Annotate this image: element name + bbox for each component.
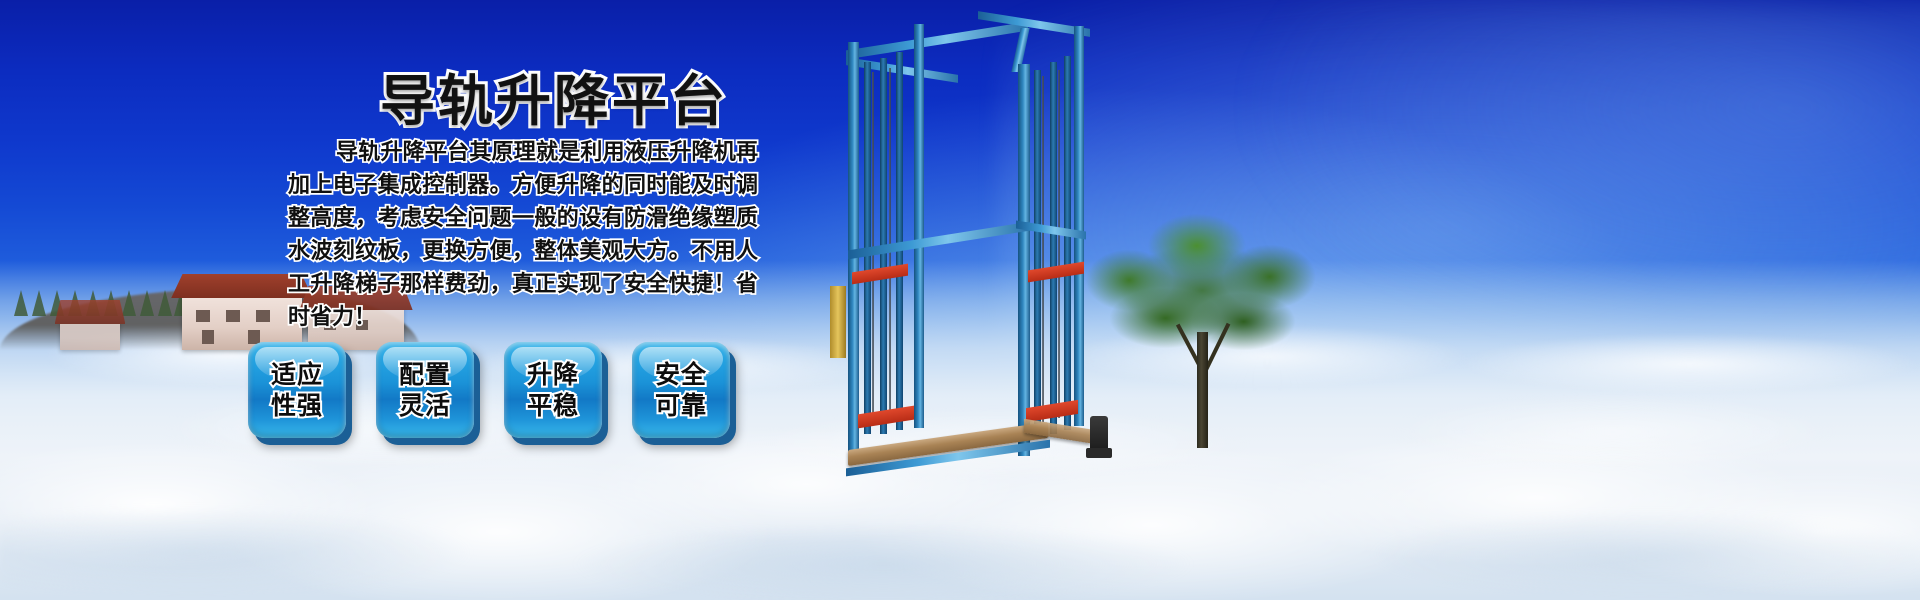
feature-badge-label: 升降 平稳	[527, 359, 579, 421]
feature-badge-label: 配置 灵活	[399, 359, 451, 421]
feature-badge-label: 安全 可靠	[655, 359, 707, 421]
column-front-left	[848, 42, 859, 452]
house-roof	[55, 300, 126, 324]
feature-badge-configuration[interactable]: 配置 灵活	[376, 342, 474, 438]
house-window	[256, 310, 270, 322]
mid-beam-front	[848, 222, 1030, 260]
village-house-small	[60, 320, 120, 350]
description-paragraph: 导轨升降平台其原理就是利用液压升降机再加上电子集成控制器。方便升降的同时能及时调…	[288, 136, 758, 334]
page-title: 导轨升降平台	[380, 56, 728, 136]
feature-badge-list: 适应 性强 配置 灵活 升降 平稳 安全 可靠	[248, 342, 730, 438]
column-front-right	[1018, 64, 1030, 456]
column-back-left	[914, 24, 924, 428]
feature-badge-smooth-lifting[interactable]: 升降 平稳	[504, 342, 602, 438]
feature-badge-label: 适应 性强	[271, 359, 323, 421]
guide-rail-right-b	[1050, 62, 1057, 434]
guide-rail-right-a	[1034, 70, 1041, 438]
feature-badge-safety[interactable]: 安全 可靠	[632, 342, 730, 438]
tree-trunk	[1197, 332, 1208, 448]
house-window	[202, 330, 214, 344]
frame-top-front	[846, 22, 1028, 60]
cloud-band-lower	[0, 480, 1920, 600]
house-window	[196, 310, 210, 322]
lift-cable	[1042, 76, 1044, 422]
guide-rail-right-c	[1064, 56, 1071, 430]
control-cabinet	[830, 286, 846, 358]
lone-tree-scenery	[1072, 208, 1332, 448]
house-window	[226, 310, 240, 322]
feature-badge-adaptability[interactable]: 适应 性强	[248, 342, 346, 438]
promo-banner: 导轨升降平台 导轨升降平台其原理就是利用液压升降机再加上电子集成控制器。方便升降…	[0, 0, 1920, 600]
guide-rail-lift-product-image	[828, 18, 1108, 480]
lift-cable	[1058, 70, 1060, 418]
power-unit-base	[1086, 448, 1112, 458]
column-back-right	[1074, 26, 1084, 426]
